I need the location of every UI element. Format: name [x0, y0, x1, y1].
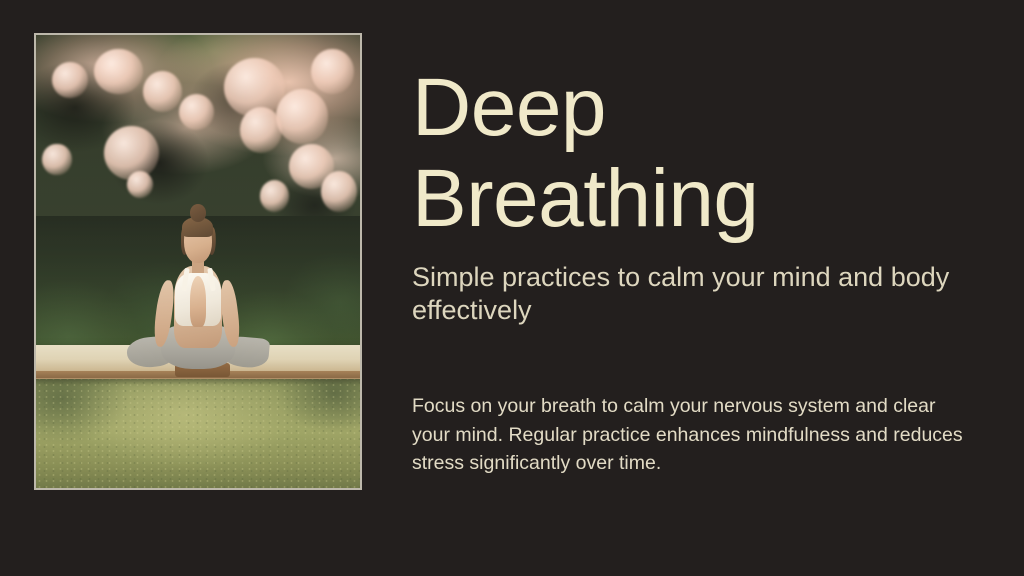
page-body-text: Focus on your breath to calm your nervou… [412, 392, 964, 478]
meditation-photo [36, 35, 360, 488]
meditating-figure [36, 35, 360, 488]
slide-canvas: Deep Breathing Simple practices to calm … [0, 0, 1024, 576]
hero-photo-frame [34, 33, 362, 490]
hair-bun [190, 204, 207, 222]
page-title: Deep Breathing [412, 62, 990, 244]
prayer-hands [190, 276, 207, 327]
page-subtitle: Simple practices to calm your mind and b… [412, 261, 957, 327]
text-column: Deep Breathing Simple practices to calm … [412, 0, 990, 576]
